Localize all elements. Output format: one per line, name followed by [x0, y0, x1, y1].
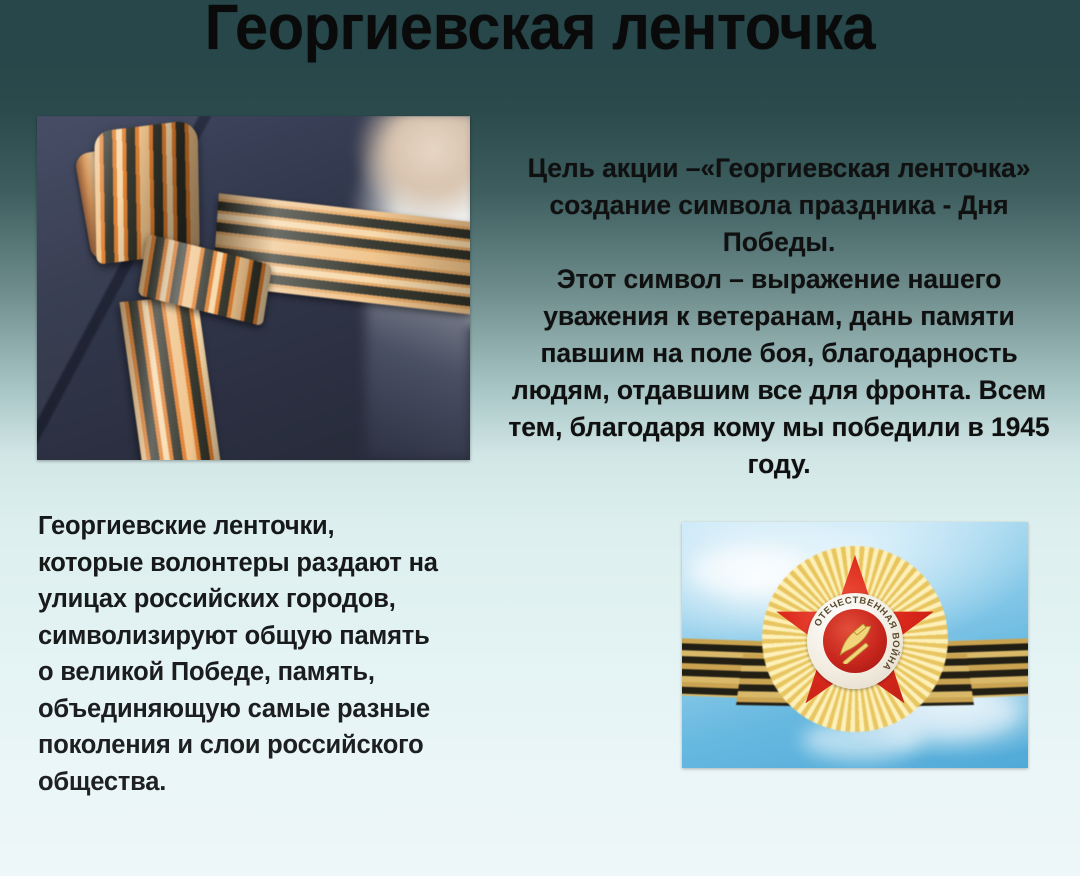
hammer-and-sickle-icon: [832, 618, 878, 664]
ribbons-text-block: Георгиевские ленточки, которые волонтеры…: [38, 508, 558, 800]
goal-text-block: Цель акции –«Георгиевская ленточка» созд…: [472, 150, 1080, 483]
ribbon-photo: [37, 116, 470, 460]
presentation-slide: Георгиевская ленточка Цель акции –«Георг…: [0, 0, 1080, 876]
page-title: Георгиевская ленточка: [38, 0, 1042, 62]
medal-photo: ОТЕЧЕСТВЕННАЯ ВОЙНА: [682, 522, 1028, 768]
